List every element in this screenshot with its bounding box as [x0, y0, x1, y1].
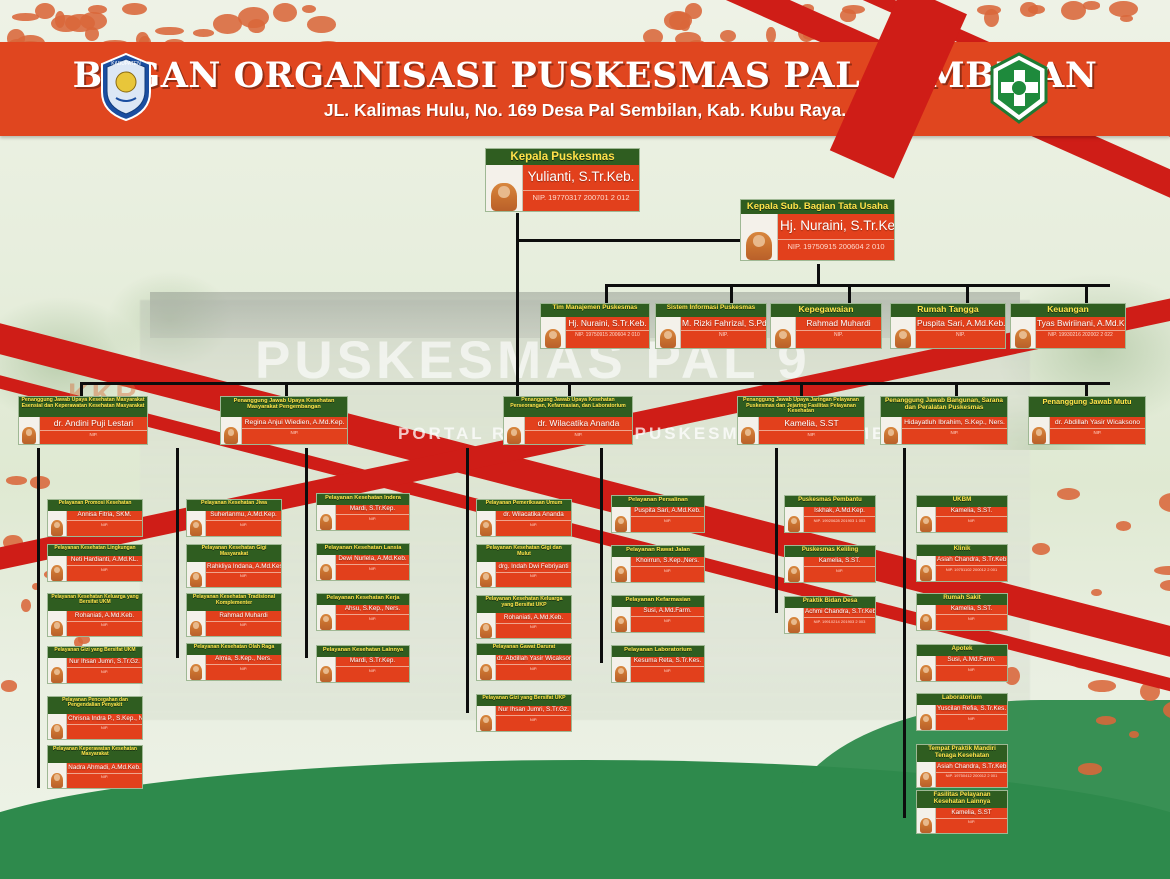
- node-nip: NIP.: [804, 566, 875, 574]
- kabupaten-emblem-icon: KABUPATEN: [98, 52, 154, 122]
- node-name: Kamelia, S.ST: [759, 417, 864, 430]
- node-name: Iskhak, A.Md.Kep.: [804, 507, 875, 517]
- node-name: M. Rizki Fahrizal, S.Pd.: [681, 317, 766, 330]
- node-title: Pelayanan Promosi Kesehatan: [47, 499, 143, 511]
- node-nip: NIP. 19750915 200604 2 010: [566, 330, 649, 341]
- node-penanggung-jawab-mutu[interactable]: Penanggung Jawab Mutudr. Abdillah Yasir …: [1028, 396, 1146, 445]
- node-pelayanan-kesehatan-indera[interactable]: Pelayanan Kesehatan InderaMardi, S.Tr.Ke…: [316, 493, 410, 531]
- node-title: Pelayanan Gizi yang Bersifat UKM: [47, 646, 143, 658]
- node-nip: NIP.: [40, 430, 147, 439]
- node-penanggung-jawab-upaya-kesehatan-masyarakat-esen[interactable]: Penanggung Jawab Upaya Kesehatan Masyara…: [18, 396, 148, 445]
- node-nip: NIP. 19910214 201903 2 003: [804, 617, 875, 625]
- avatar: [48, 556, 67, 581]
- connector: [516, 213, 519, 241]
- node-name: Kesuma Reta, S.Tr.Kes.: [631, 657, 704, 667]
- node-title: Tim Manajemen Puskesmas: [540, 303, 650, 317]
- node-keuangan[interactable]: KeuanganTyas Bwiriinani, A.Md.Keb.NIP. 1…: [1010, 303, 1126, 349]
- node-nip: NIP.: [631, 516, 704, 524]
- node-nip: NIP.: [336, 514, 409, 522]
- node-title: Pelayanan Kesehatan Keluarga yang Bersif…: [476, 595, 572, 613]
- node-nip: NIP.: [336, 564, 409, 572]
- node-apotek[interactable]: ApotekSusi, A.Md.Farm.NIP.: [916, 644, 1008, 682]
- node-pelayanan-keperawatan-kesehatan-masyarakat[interactable]: Pelayanan Keperawatan Kesehatan Masyarak…: [47, 745, 143, 789]
- avatar: [48, 714, 67, 739]
- node-pelayanan-kesehatan-olah-raga[interactable]: Pelayanan Kesehatan Olah RagaAlmia, S.Ke…: [186, 643, 282, 681]
- node-nip: NIP.: [936, 818, 1007, 826]
- node-name: Nadra Ahmadi, A.Md.Keb.: [67, 763, 142, 773]
- node-title: Pelayanan Keperawatan Kesehatan Masyarak…: [47, 745, 143, 763]
- node-title: Pelayanan Kesehatan Kerja: [316, 593, 410, 605]
- avatar: [917, 808, 936, 833]
- avatar: [221, 417, 242, 444]
- node-title: Pelayanan Kesehatan Gigi dan Mulut: [476, 544, 572, 562]
- avatar: [19, 417, 40, 444]
- node-penanggung-jawab-upaya-kesehatan-perseorangan-ke[interactable]: Penanggung Jawab Upaya Kesehatan Perseor…: [503, 396, 633, 445]
- connector: [600, 448, 603, 663]
- connector: [775, 448, 778, 613]
- avatar: [317, 505, 336, 530]
- node-pelayanan-kefarmasian[interactable]: Pelayanan KefarmasianSusi, A.Md.Farm.NIP…: [611, 595, 705, 633]
- node-name: Rahmad Muhardi: [796, 317, 881, 330]
- avatar: [1029, 417, 1050, 444]
- node-pelayanan-promosi-kesehatan[interactable]: Pelayanan Promosi KesehatanAnnisa Fitria…: [47, 499, 143, 537]
- node-title: Pelayanan Pemeriksaan Umum: [476, 499, 572, 511]
- node-nip: NIP.: [67, 520, 142, 528]
- node-fasilitas-pelayanan-kesehatan-lainnya[interactable]: Fasilitas Pelayanan Kesehatan LainnyaKam…: [916, 790, 1008, 834]
- node-nip: NIP. 19750412 200012 2 001: [936, 772, 1007, 780]
- avatar: [785, 507, 804, 532]
- avatar: [317, 657, 336, 682]
- node-name: Rohaniati, A.Md.Keb.: [496, 613, 571, 623]
- node-pelayanan-pemeriksaan-umum[interactable]: Pelayanan Pemeriksaan Umumdr. Wilacatika…: [476, 499, 572, 537]
- connector: [466, 448, 469, 713]
- node-title: Tempat Praktik Mandiri Tenaga Kesehatan: [916, 744, 1008, 762]
- node-nip: NIP.: [936, 714, 1007, 722]
- node-nip: NIP.: [525, 430, 632, 439]
- connector: [817, 264, 820, 286]
- node-title: Fasilitas Pelayanan Kesehatan Lainnya: [916, 790, 1008, 808]
- node-name: Almia, S.Kep., Ners.: [206, 655, 281, 665]
- avatar: [612, 607, 631, 632]
- node-name: Annisa Fitria, SKM.: [67, 511, 142, 521]
- avatar: [477, 511, 496, 536]
- connector: [516, 239, 746, 242]
- node-puskesmas-pembantu[interactable]: Puskesmas PembantuIskhak, A.Md.Kep.NIP. …: [784, 495, 876, 533]
- node-pelayanan-rawat-jalan[interactable]: Pelayanan Rawat JalanKhoirrun, S.Kep.,Ne…: [611, 545, 705, 583]
- node-title: Pelayanan Kesehatan Lingkungan: [47, 544, 143, 556]
- avatar: [486, 165, 523, 211]
- node-nip: NIP.: [496, 664, 571, 672]
- node-kepala-puskesmas[interactable]: Kepala Puskesmas Yulianti, S.Tr.Keb. NIP…: [485, 148, 640, 212]
- node-title: Puskesmas Pembantu: [784, 495, 876, 507]
- node-title: Pelayanan Kesehatan Tradisional Kompleme…: [186, 593, 282, 611]
- node-name: Regina Anjui Wiedien, A.Md.Kep.: [242, 417, 347, 428]
- node-title: Penanggung Jawab Bangunan, Sarana dan Pe…: [880, 396, 1008, 417]
- connector: [1085, 284, 1088, 303]
- node-penanggung-jawab-upaya-jaringan-pelayanan-puskes[interactable]: Penanggung Jawab Upaya Jaringan Pelayana…: [737, 396, 865, 445]
- avatar: [187, 611, 206, 636]
- connector: [966, 284, 969, 303]
- avatar: [317, 555, 336, 580]
- node-nip: NIP.: [1050, 428, 1145, 437]
- node-name: Nur Ihsan Jumri, S.Tr.Gz.: [67, 658, 142, 668]
- node-nip: NIP.: [206, 621, 281, 629]
- node-tim-manajemen-puskesmas[interactable]: Tim Manajemen PuskesmasHj. Nuraini, S.Tr…: [540, 303, 650, 349]
- node-name: Rahmad Muhardi: [206, 611, 281, 621]
- node-nip: NIP.: [336, 614, 409, 622]
- node-kepala-sub-bagian-tata-usaha[interactable]: Kepala Sub. Bagian Tata Usaha Hj. Nurain…: [740, 199, 895, 261]
- node-name: Ahsu, S.Kep., Ners.: [336, 605, 409, 615]
- node-nip: NIP.: [67, 773, 142, 781]
- node-pelayanan-kesehatan-lansia[interactable]: Pelayanan Kesehatan LansiaDewi Nurlela, …: [316, 543, 410, 581]
- node-pelayanan-gizi-yang-bersifat-ukp[interactable]: Pelayanan Gizi yang Bersifat UKPNur Ihsa…: [476, 694, 572, 732]
- node-nip: NIP.: [936, 614, 1007, 622]
- node-nip: NIP.: [67, 621, 142, 629]
- avatar: [917, 507, 936, 532]
- connector: [305, 448, 308, 658]
- node-name: dr. Wilacatika Ananda: [496, 511, 571, 521]
- node-title: Penanggung Jawab Upaya Kesehatan Masyara…: [18, 396, 148, 417]
- node-title: Pelayanan Gizi yang Bersifat UKP: [476, 694, 572, 706]
- node-title: Pelayanan Kesehatan Indera: [316, 493, 410, 505]
- node-nip: NIP.: [936, 665, 1007, 673]
- node-title: Rumah Tangga: [890, 303, 1006, 317]
- node-nip: NIP.: [242, 428, 347, 437]
- node-ukbm[interactable]: UKBMKamelia, S.ST.NIP.: [916, 495, 1008, 533]
- node-nip: NIP.: [631, 566, 704, 574]
- node-nip: NIP.: [631, 616, 704, 624]
- avatar: [738, 417, 759, 444]
- node-tempat-praktik-mandiri-tenaga-kesehatan[interactable]: Tempat Praktik Mandiri Tenaga KesehatanA…: [916, 744, 1008, 788]
- node-pelayanan-kesehatan-keluarga-yang-bersifat-ukp[interactable]: Pelayanan Kesehatan Keluarga yang Bersif…: [476, 595, 572, 639]
- connector: [730, 284, 733, 303]
- node-name: Kamelia, S.ST: [936, 808, 1007, 818]
- avatar: [504, 417, 525, 444]
- node-title: Sistem Informasi Puskesmas: [655, 303, 767, 317]
- node-nip: NIP.: [902, 428, 1007, 437]
- avatar: [917, 705, 936, 730]
- avatar: [917, 656, 936, 681]
- node-title: Pelayanan Pencegahan dan Pengendalian Pe…: [47, 696, 143, 714]
- node-rumah-sakit[interactable]: Rumah SakitKamelia, S.ST.NIP.: [916, 593, 1008, 631]
- avatar: [48, 763, 67, 788]
- node-nip: NIP.: [67, 565, 142, 573]
- node-pelayanan-pencegahan-dan-pengendalian-penyakit[interactable]: Pelayanan Pencegahan dan Pengendalian Pe…: [47, 696, 143, 740]
- node-rumah-tangga[interactable]: Rumah TanggaPuspita Sari, A.Md.Keb.NIP.: [890, 303, 1006, 349]
- node-name: Puspita Sari, A.Md.Keb.: [631, 507, 704, 517]
- node-nip: NIP.: [336, 666, 409, 674]
- node-pelayanan-gawat-darurat[interactable]: Pelayanan Gawat Daruratdr. Abdillah Yasi…: [476, 643, 572, 681]
- node-title: Pelayanan Kesehatan Lainnya: [316, 645, 410, 657]
- avatar: [477, 655, 496, 680]
- avatar: [785, 608, 804, 633]
- health-cross-logo-icon: [988, 52, 1050, 124]
- node-pelayanan-kesehatan-gigi-masyarakat[interactable]: Pelayanan Kesehatan Gigi MasyarakatRahkl…: [186, 544, 282, 588]
- avatar: [612, 657, 631, 682]
- node-nip: NIP. 19920628 201903 1 003: [804, 516, 875, 524]
- connector: [516, 239, 519, 399]
- node-puskesmas-keliling[interactable]: Puskesmas KelilingKamelia, S.ST.NIP.: [784, 545, 876, 583]
- avatar: [917, 762, 936, 787]
- connector: [176, 448, 179, 658]
- node-name: Tyas Bwiriinani, A.Md.Keb.: [1036, 317, 1125, 330]
- node-name: drg. Indah Dwi Febriyanti: [496, 562, 571, 572]
- node-name: Suherlanmu, A.Md.Kep.: [206, 511, 281, 521]
- node-name: Nur Ihsan Jumri, S.Tr.Gz.: [496, 706, 571, 716]
- node-name: Achmi Chandra, S.Tr.Keb., Bdn.: [804, 608, 875, 618]
- node-name: Hidayatluh Ibrahim, S.Kep., Ners.: [902, 417, 1007, 428]
- avatar: [917, 605, 936, 630]
- node-title: Pelayanan Kesehatan Lansia: [316, 543, 410, 555]
- node-laboratorium[interactable]: LaboratoriumYuscilan Refia, S.Tr.Kes.NIP…: [916, 693, 1008, 731]
- node-nip: NIP.: [496, 572, 571, 580]
- avatar: [48, 611, 67, 636]
- node-name: dr. Wilacatika Ananda: [525, 417, 632, 430]
- node-nip: NIP. 19750915 200604 2 010: [778, 239, 894, 254]
- node-nip: NIP. 19770317 200701 2 012: [523, 190, 639, 205]
- node-name: Kamelia, S.ST.: [804, 557, 875, 567]
- node-nip: NIP.: [631, 666, 704, 674]
- node-pelayanan-kesehatan-lingkungan[interactable]: Pelayanan Kesehatan LingkunganNeti Hardi…: [47, 544, 143, 582]
- node-nip: NIP.: [67, 667, 142, 675]
- avatar: [317, 605, 336, 630]
- node-title: Pelayanan Kefarmasian: [611, 595, 705, 607]
- node-title: Apotek: [916, 644, 1008, 656]
- node-nip: NIP. 19751102 200012 2 001: [936, 565, 1007, 573]
- node-name: Rahkliya Indana, A.Md.Kes.: [206, 562, 281, 572]
- node-name: Rohaniati, A.Md.Keb.: [67, 611, 142, 621]
- avatar: [881, 417, 902, 444]
- node-title: Penanggung Jawab Upaya Kesehatan Masyara…: [220, 396, 348, 417]
- avatar: [917, 556, 936, 581]
- node-pelayanan-kesehatan-lainnya[interactable]: Pelayanan Kesehatan LainnyaMardi, S.Tr.K…: [316, 645, 410, 683]
- node-nip: NIP.: [67, 724, 142, 732]
- node-pelayanan-kesehatan-kerja[interactable]: Pelayanan Kesehatan KerjaAhsu, S.Kep., N…: [316, 593, 410, 631]
- node-pelayanan-kesehatan-keluarga-yang-bersifat-ukm[interactable]: Pelayanan Kesehatan Keluarga yang Bersif…: [47, 593, 143, 637]
- node-pelayanan-gizi-yang-bersifat-ukm[interactable]: Pelayanan Gizi yang Bersifat UKMNur Ihsa…: [47, 646, 143, 684]
- node-nip: NIP.: [936, 516, 1007, 524]
- node-pelayanan-persalinan[interactable]: Pelayanan PersalinanPuspita Sari, A.Md.K…: [611, 495, 705, 533]
- node-nip: NIP.: [496, 520, 571, 528]
- connector: [37, 448, 40, 788]
- node-nip: NIP.: [496, 715, 571, 723]
- node-name: Asiah Chandra, S.Tr.Keb.,Bdn.: [936, 762, 1007, 772]
- node-penanggung-jawab-upaya-kesehatan-masyarakat-peng[interactable]: Penanggung Jawab Upaya Kesehatan Masyara…: [220, 396, 348, 445]
- node-name: Mardi, S.Tr.Kep.: [336, 657, 409, 667]
- avatar: [187, 655, 206, 680]
- node-name: Asiah Chandra, S.Tr.Keb.,Bdn.: [936, 556, 1007, 566]
- node-title: Pelayanan Rawat Jalan: [611, 545, 705, 557]
- svg-text:KABUPATEN: KABUPATEN: [111, 61, 141, 67]
- node-title: Kepala Puskesmas: [485, 148, 640, 165]
- node-title: Laboratorium: [916, 693, 1008, 705]
- avatar: [187, 511, 206, 536]
- node-nip: NIP.: [206, 664, 281, 672]
- node-name: Yulianti, S.Tr.Keb.: [523, 165, 639, 190]
- node-title: Pelayanan Laboratorium: [611, 645, 705, 657]
- avatar: [477, 613, 496, 638]
- node-title: Penanggung Jawab Mutu: [1028, 396, 1146, 417]
- node-title: Penanggung Jawab Upaya Jaringan Pelayana…: [737, 396, 865, 417]
- node-nip: NIP.: [759, 430, 864, 439]
- node-name: Dewi Nurlela, A.Md.Keb.: [336, 555, 409, 565]
- node-title: Keuangan: [1010, 303, 1126, 317]
- avatar: [612, 507, 631, 532]
- avatar: [741, 214, 778, 260]
- node-name: Kamelia, S.ST.: [936, 605, 1007, 615]
- node-title: Penanggung Jawab Upaya Kesehatan Perseor…: [503, 396, 633, 417]
- node-title: Pelayanan Kesehatan Olah Raga: [186, 643, 282, 655]
- node-name: Mardi, S.Tr.Kep.: [336, 505, 409, 515]
- node-pelayanan-laboratorium[interactable]: Pelayanan LaboratoriumKesuma Reta, S.Tr.…: [611, 645, 705, 683]
- node-name: Puspita Sari, A.Md.Keb.: [916, 317, 1005, 330]
- node-pelayanan-kesehatan-gigi-dan-mulut[interactable]: Pelayanan Kesehatan Gigi dan Mulutdrg. I…: [476, 544, 572, 588]
- avatar: [612, 557, 631, 582]
- avatar: [187, 562, 206, 587]
- node-name: Hj. Nuraini, S.Tr.Keb.: [778, 214, 894, 239]
- node-name: Susi, A.Md.Farm.: [631, 607, 704, 617]
- avatar: [656, 317, 681, 348]
- node-pelayanan-kesehatan-tradisional-komplementer[interactable]: Pelayanan Kesehatan Tradisional Kompleme…: [186, 593, 282, 637]
- node-nip: NIP.: [916, 330, 1005, 341]
- node-title: UKBM: [916, 495, 1008, 507]
- node-title: Klinik: [916, 544, 1008, 556]
- node-nip: NIP.: [206, 520, 281, 528]
- node-name: Neti Hardianti, A.Md.KL.: [67, 556, 142, 566]
- org-chart-poster: KKR PUSKESMAS PAL 9 PORTAL RESMI UPTD PU…: [0, 0, 1170, 879]
- page-subtitle: JL. Kalimas Hulu, No. 169 Desa Pal Sembi…: [324, 102, 846, 120]
- node-title: Rumah Sakit: [916, 593, 1008, 605]
- node-title: Pelayanan Persalinan: [611, 495, 705, 507]
- connector: [903, 448, 906, 818]
- node-title: Puskesmas Keliling: [784, 545, 876, 557]
- avatar: [891, 317, 916, 348]
- node-nip: NIP. 19930216 202002 2 022: [1036, 330, 1125, 341]
- node-name: dr. Abdillah Yasir Wicaksono: [1050, 417, 1145, 428]
- avatar: [785, 557, 804, 582]
- node-pelayanan-kesehatan-jiwa[interactable]: Pelayanan Kesehatan JiwaSuherlanmu, A.Md…: [186, 499, 282, 537]
- node-name: dr. Abdillah Yasir Wicaksono: [496, 655, 571, 665]
- node-name: dr. Andini Puji Lestari: [40, 417, 147, 430]
- node-name: Khoirrun, S.Kep.,Ners.: [631, 557, 704, 567]
- node-title: Kepala Sub. Bagian Tata Usaha: [740, 199, 895, 214]
- node-name: Hj. Nuraini, S.Tr.Keb.: [566, 317, 649, 330]
- node-title: Pelayanan Kesehatan Jiwa: [186, 499, 282, 511]
- node-praktik-bidan-desa[interactable]: Praktik Bidan DesaAchmi Chandra, S.Tr.Ke…: [784, 596, 876, 634]
- node-name: Chrisna Indra P., S.Kep., Ners.: [67, 714, 142, 724]
- node-klinik[interactable]: KlinikAsiah Chandra, S.Tr.Keb.,Bdn.NIP. …: [916, 544, 1008, 582]
- connector: [605, 284, 1110, 287]
- node-nip: NIP.: [206, 572, 281, 580]
- avatar: [48, 511, 67, 536]
- node-penanggung-jawab-bangunan-sarana-dan-peralatan-p[interactable]: Penanggung Jawab Bangunan, Sarana dan Pe…: [880, 396, 1008, 445]
- avatar: [541, 317, 566, 348]
- node-kepegawaian[interactable]: KepegawaianRahmad MuhardiNIP.: [770, 303, 882, 349]
- node-title: Praktik Bidan Desa: [784, 596, 876, 608]
- node-name: Susi, A.Md.Farm.: [936, 656, 1007, 666]
- node-name: Yuscilan Refia, S.Tr.Kes.: [936, 705, 1007, 715]
- avatar: [48, 658, 67, 683]
- node-title: Pelayanan Kesehatan Keluarga yang Bersif…: [47, 593, 143, 611]
- avatar: [477, 706, 496, 731]
- node-sistem-informasi-puskesmas[interactable]: Sistem Informasi PuskesmasM. Rizki Fahri…: [655, 303, 767, 349]
- node-title: Kepegawaian: [770, 303, 882, 317]
- avatar: [771, 317, 796, 348]
- node-title: Pelayanan Kesehatan Gigi Masyarakat: [186, 544, 282, 562]
- node-nip: NIP.: [681, 330, 766, 341]
- node-nip: NIP.: [496, 623, 571, 631]
- node-title: Pelayanan Gawat Darurat: [476, 643, 572, 655]
- avatar: [1011, 317, 1036, 348]
- connector: [605, 284, 608, 303]
- connector: [848, 284, 851, 303]
- node-nip: NIP.: [796, 330, 881, 341]
- node-name: Kamelia, S.ST.: [936, 507, 1007, 517]
- avatar: [477, 562, 496, 587]
